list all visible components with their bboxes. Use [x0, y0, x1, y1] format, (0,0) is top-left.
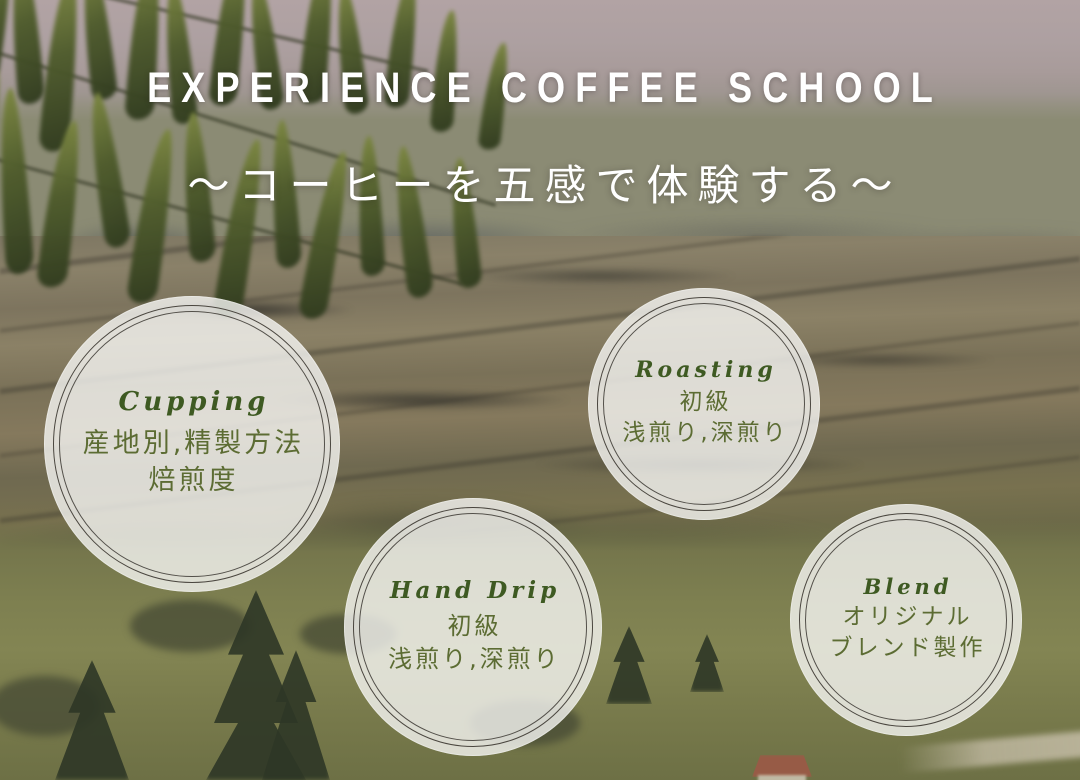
course-detail-cupping-2: 焙煎度 [146, 463, 239, 499]
course-detail-cupping-1: 産地別,精製方法 [80, 426, 305, 462]
page-subtitle: 〜コーヒーを五感で体験する〜 [0, 152, 1080, 213]
course-title-cupping: Cupping [115, 389, 270, 415]
course-badge-blend[interactable]: Blend オリジナル ブレンド製作 [790, 504, 1022, 736]
course-detail-blend-1: オリジナル [840, 602, 973, 633]
page-title: EXPERIENCE COFFEE SCHOOL [86, 64, 993, 113]
coffee-school-banner: EXPERIENCE COFFEE SCHOOL 〜コーヒーを五感で体験する〜 … [0, 0, 1080, 780]
background-bush [130, 600, 250, 652]
course-badge-roasting[interactable]: Roasting 初級 浅煎り,深煎り [588, 288, 820, 520]
course-detail-roasting-1: 初級 [677, 387, 732, 418]
background-house-wall [758, 775, 806, 780]
course-badge-cupping[interactable]: Cupping 産地別,精製方法 焙煎度 [44, 296, 340, 592]
course-badge-hand-drip[interactable]: Hand Drip 初級 浅煎り,深煎り [344, 498, 602, 756]
course-detail-hand-drip-1: 初級 [445, 610, 502, 642]
course-title-roasting: Roasting [631, 359, 777, 381]
course-title-blend: Blend [859, 576, 952, 597]
course-detail-blend-2: ブレンド製作 [827, 633, 986, 664]
course-title-hand-drip: Hand Drip [386, 579, 560, 602]
course-detail-roasting-2: 浅煎り,深煎り [619, 418, 788, 449]
background-house-roof [752, 755, 812, 777]
course-detail-hand-drip-2: 浅煎り,深煎り [385, 643, 561, 675]
